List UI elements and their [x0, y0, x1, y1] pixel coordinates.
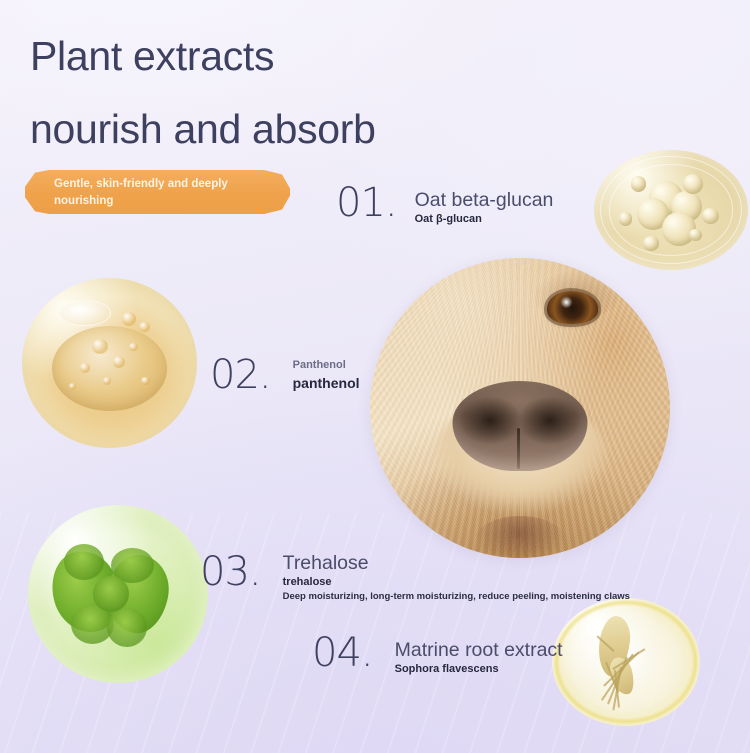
ingredient-number-04-value: 04	[312, 630, 361, 676]
ingredient-text-02: Panthenol panthenol	[271, 355, 360, 393]
ingredient-block-04: 04. Matrine root extract Sophora flavesc…	[312, 633, 563, 677]
ingredient-number-01-value: 01	[336, 180, 385, 226]
ingredient-block-02: 02. Panthenol panthenol	[210, 355, 360, 395]
dog-eye	[547, 291, 598, 324]
ingredient-title-03: Trehalose	[283, 552, 630, 575]
panthenol-gel-core	[52, 326, 168, 411]
panthenol-gel-highlight	[59, 300, 112, 326]
ingredient-number-03: 03.	[200, 552, 261, 592]
page-title-line-1: Plant extracts	[30, 33, 274, 79]
dog-nose	[453, 381, 588, 471]
ingredient-image-panthenol	[22, 278, 197, 448]
tagline-badge: Gentle, skin-friendly and deeply nourish…	[25, 170, 290, 214]
ingredient-text-04: Matrine root extract Sophora flavescens	[373, 633, 563, 677]
ingredient-number-01: 01.	[336, 183, 397, 223]
ingredient-text-03: Trehalose trehalose Deep moisturizing, l…	[261, 552, 630, 604]
ingredient-title-04: Matrine root extract	[395, 639, 563, 662]
ingredient-title-02: Panthenol	[293, 358, 360, 373]
page-title-line-2: nourish and absorb	[30, 93, 376, 166]
page-title: Plant extracts nourish and absorb	[30, 20, 376, 166]
ingredient-title-01: Oat beta-glucan	[415, 189, 554, 212]
ingredient-number-02-value: 02	[210, 352, 259, 398]
ingredient-description-03: Deep moisturizing, long-term moisturizin…	[283, 590, 630, 604]
ingredient-number-01-dot: .	[385, 180, 397, 226]
ingredient-number-04: 04.	[312, 633, 373, 673]
ingredient-block-01: 01. Oat beta-glucan Oat β-glucan	[336, 183, 553, 227]
ingredient-number-03-value: 03	[200, 549, 249, 595]
hero-dog-photo	[370, 258, 670, 558]
ingredient-number-02: 02.	[210, 355, 271, 395]
ingredient-subtitle-02: panthenol	[293, 373, 360, 393]
ingredient-text-01: Oat beta-glucan Oat β-glucan	[397, 183, 554, 227]
tagline-badge-label: Gentle, skin-friendly and deeply nourish…	[54, 176, 254, 210]
ingredient-subtitle-01: Oat β-glucan	[415, 212, 554, 227]
ingredient-image-oat-beta-glucan	[594, 150, 748, 270]
ingredient-subtitle-04: Sophora flavescens	[395, 662, 563, 677]
ingredient-image-matrine-root	[552, 598, 700, 726]
ingredient-subtitle-03: trehalose	[283, 575, 630, 590]
ingredient-number-04-dot: .	[361, 630, 373, 676]
ingredient-block-03: 03. Trehalose trehalose Deep moisturizin…	[200, 552, 630, 604]
ingredient-image-trehalose	[28, 505, 208, 683]
ingredient-number-03-dot: .	[249, 549, 261, 595]
ingredient-number-02-dot: .	[259, 352, 271, 398]
product-ingredient-poster: Plant extracts nourish and absorb Gentle…	[0, 0, 750, 753]
